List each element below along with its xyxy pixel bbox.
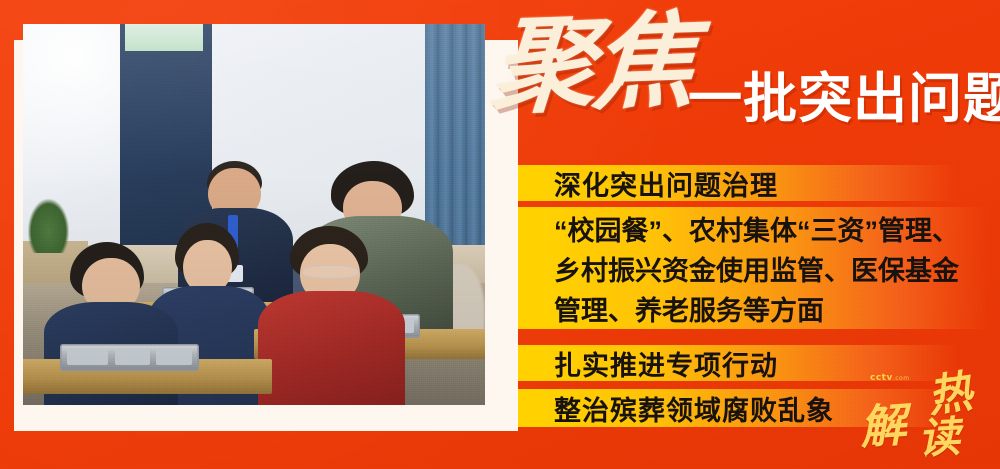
- section-body-text: “校园餐”、农村集体“三资”管理、乡村振兴资金使用监管、医保基金管理、养老服务等…: [540, 207, 988, 331]
- photo-frame: [23, 24, 485, 405]
- heading-accent-tab: [518, 345, 540, 381]
- photo-tone-overlay: [23, 24, 485, 405]
- calligraphy-char-jie: 解: [858, 401, 907, 450]
- section-heading-text: 扎实推进专项行动: [540, 344, 778, 383]
- title-subtitle: 一批突出问题: [688, 54, 1000, 133]
- poster-title: 聚焦 一批突出问题: [492, 10, 992, 136]
- calligraphy-char-du: 读: [917, 416, 961, 460]
- redu-calligraphy: 热 解 读: [862, 377, 988, 461]
- body-accent-tab: [518, 389, 540, 427]
- poster-canvas: 聚焦 一批突出问题 深化突出问题治理 “校园餐”、农村集体“三资”管理、乡村振兴…: [0, 0, 1000, 469]
- body-gradient-bar: “校园餐”、农村集体“三资”管理、乡村振兴资金使用监管、医保基金管理、养老服务等…: [540, 207, 988, 329]
- cctv-logo: cctv.com 热 解 读: [856, 359, 988, 463]
- section-body-1: “校园餐”、农村集体“三资”管理、乡村振兴资金使用监管、医保基金管理、养老服务等…: [518, 207, 988, 329]
- heading-accent-tab: [518, 165, 540, 201]
- heading-gradient-bar: 深化突出问题治理: [540, 165, 958, 201]
- section-heading-1: 深化突出问题治理: [518, 165, 958, 201]
- section-heading-text: 深化突出问题治理: [540, 164, 778, 203]
- classroom-lunch-photo: [23, 24, 485, 405]
- section-body-text: 整治殡葬领域腐败乱象: [540, 389, 834, 428]
- body-accent-tab: [518, 207, 540, 329]
- title-calligraphy: 聚焦: [488, 9, 696, 120]
